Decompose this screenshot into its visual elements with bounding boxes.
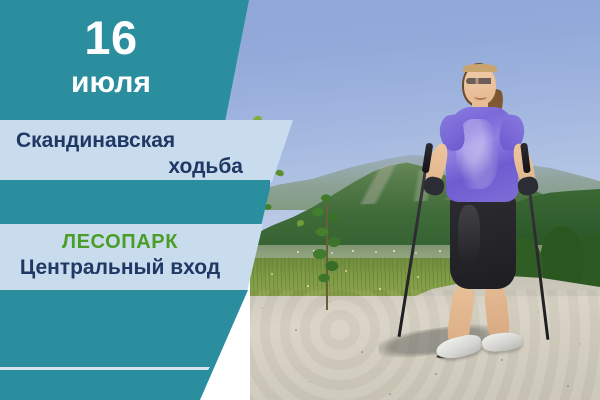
headband <box>463 64 497 72</box>
nordic-walker-figure <box>400 45 590 385</box>
event-month: июля <box>0 68 222 98</box>
glove-left <box>422 175 446 197</box>
smile <box>474 93 487 100</box>
activity-title-line2: ходьба <box>0 156 243 177</box>
teal-panel-middle <box>0 180 270 226</box>
foreground-sapling <box>300 190 350 310</box>
venue-name: ЛЕСОПАРК <box>0 232 240 252</box>
divider-line <box>0 367 210 370</box>
pants-highlight <box>458 205 480 265</box>
leg-right <box>483 282 511 340</box>
activity-title-line1: Скандинавская <box>16 130 175 151</box>
shoe-right <box>481 331 523 353</box>
event-day: 16 <box>0 14 222 61</box>
venue-entrance: Центральный вход <box>0 257 240 278</box>
event-poster: 16 июля Скандинавская ходьба ЛЕСОПАРК Це… <box>0 0 600 400</box>
sunglasses <box>466 78 494 84</box>
